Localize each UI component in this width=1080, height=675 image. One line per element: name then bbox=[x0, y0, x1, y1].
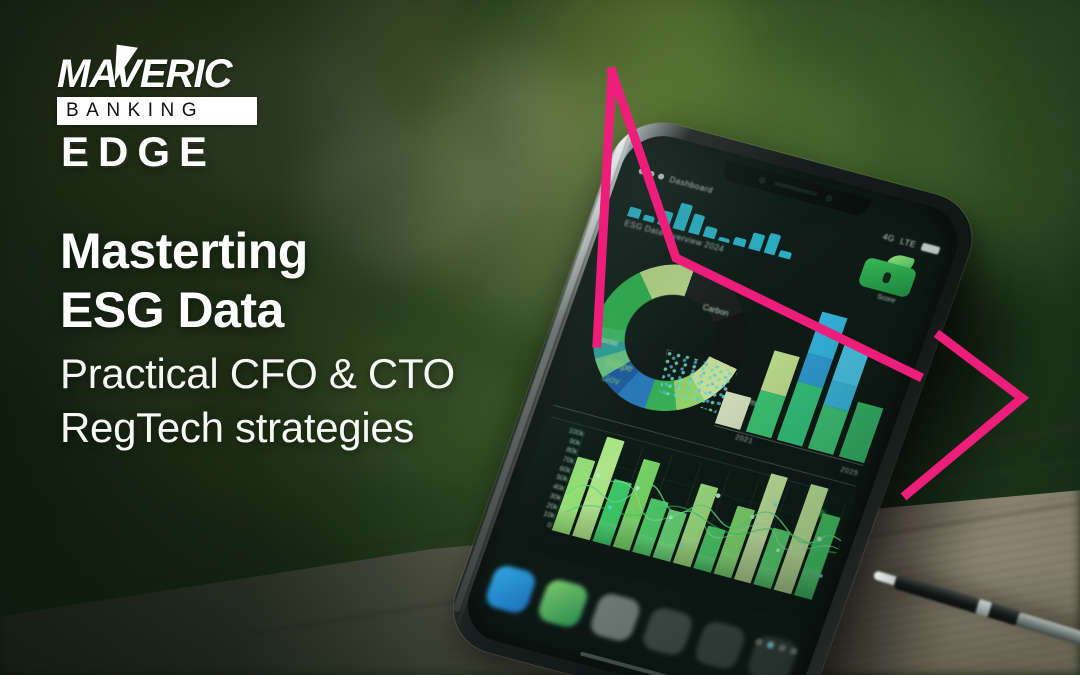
sensor-icon bbox=[825, 194, 834, 202]
bar-axis-label-right: 2025 bbox=[839, 466, 859, 477]
earpiece-speaker bbox=[774, 181, 818, 196]
logo-wordmark: MAVERIC bbox=[57, 52, 257, 96]
browser-icon[interactable] bbox=[483, 563, 538, 615]
front-camera-icon bbox=[758, 176, 767, 184]
battery-icon bbox=[920, 243, 940, 255]
logo-edge-text: EDGE bbox=[57, 130, 277, 174]
app-title: Dashboard bbox=[668, 175, 714, 195]
subheadline-line-2: RegTech strategies bbox=[60, 401, 530, 455]
esg-leaf-icon[interactable] bbox=[535, 577, 590, 629]
signal-indicator: 4G bbox=[882, 232, 897, 244]
headline-line-2: ESG Data bbox=[60, 281, 530, 340]
logo-banking-bar: BANKING bbox=[57, 97, 257, 125]
settings-icon[interactable] bbox=[692, 619, 747, 671]
notes-icon[interactable] bbox=[588, 591, 643, 643]
esg-score-badge[interactable]: Score bbox=[853, 247, 925, 305]
headline-line-1: Masterting bbox=[60, 222, 530, 281]
subheadline-line-1: Practical CFO & CTO bbox=[60, 347, 530, 401]
network-indicator: LTE bbox=[899, 236, 917, 249]
camera-icon[interactable] bbox=[640, 605, 695, 657]
logo-wordmark-text: MAVERIC bbox=[57, 52, 231, 96]
headline-block: Masterting ESG Data Practical CFO & CTO … bbox=[60, 222, 530, 455]
menu-dots-icon[interactable] bbox=[638, 168, 665, 180]
brand-logo: MAVERIC BANKING EDGE bbox=[57, 52, 277, 174]
banner-canvas: Dashboard 4G LTE ESG Data Overview 2024 bbox=[0, 0, 1080, 675]
more-icon[interactable] bbox=[745, 633, 800, 675]
